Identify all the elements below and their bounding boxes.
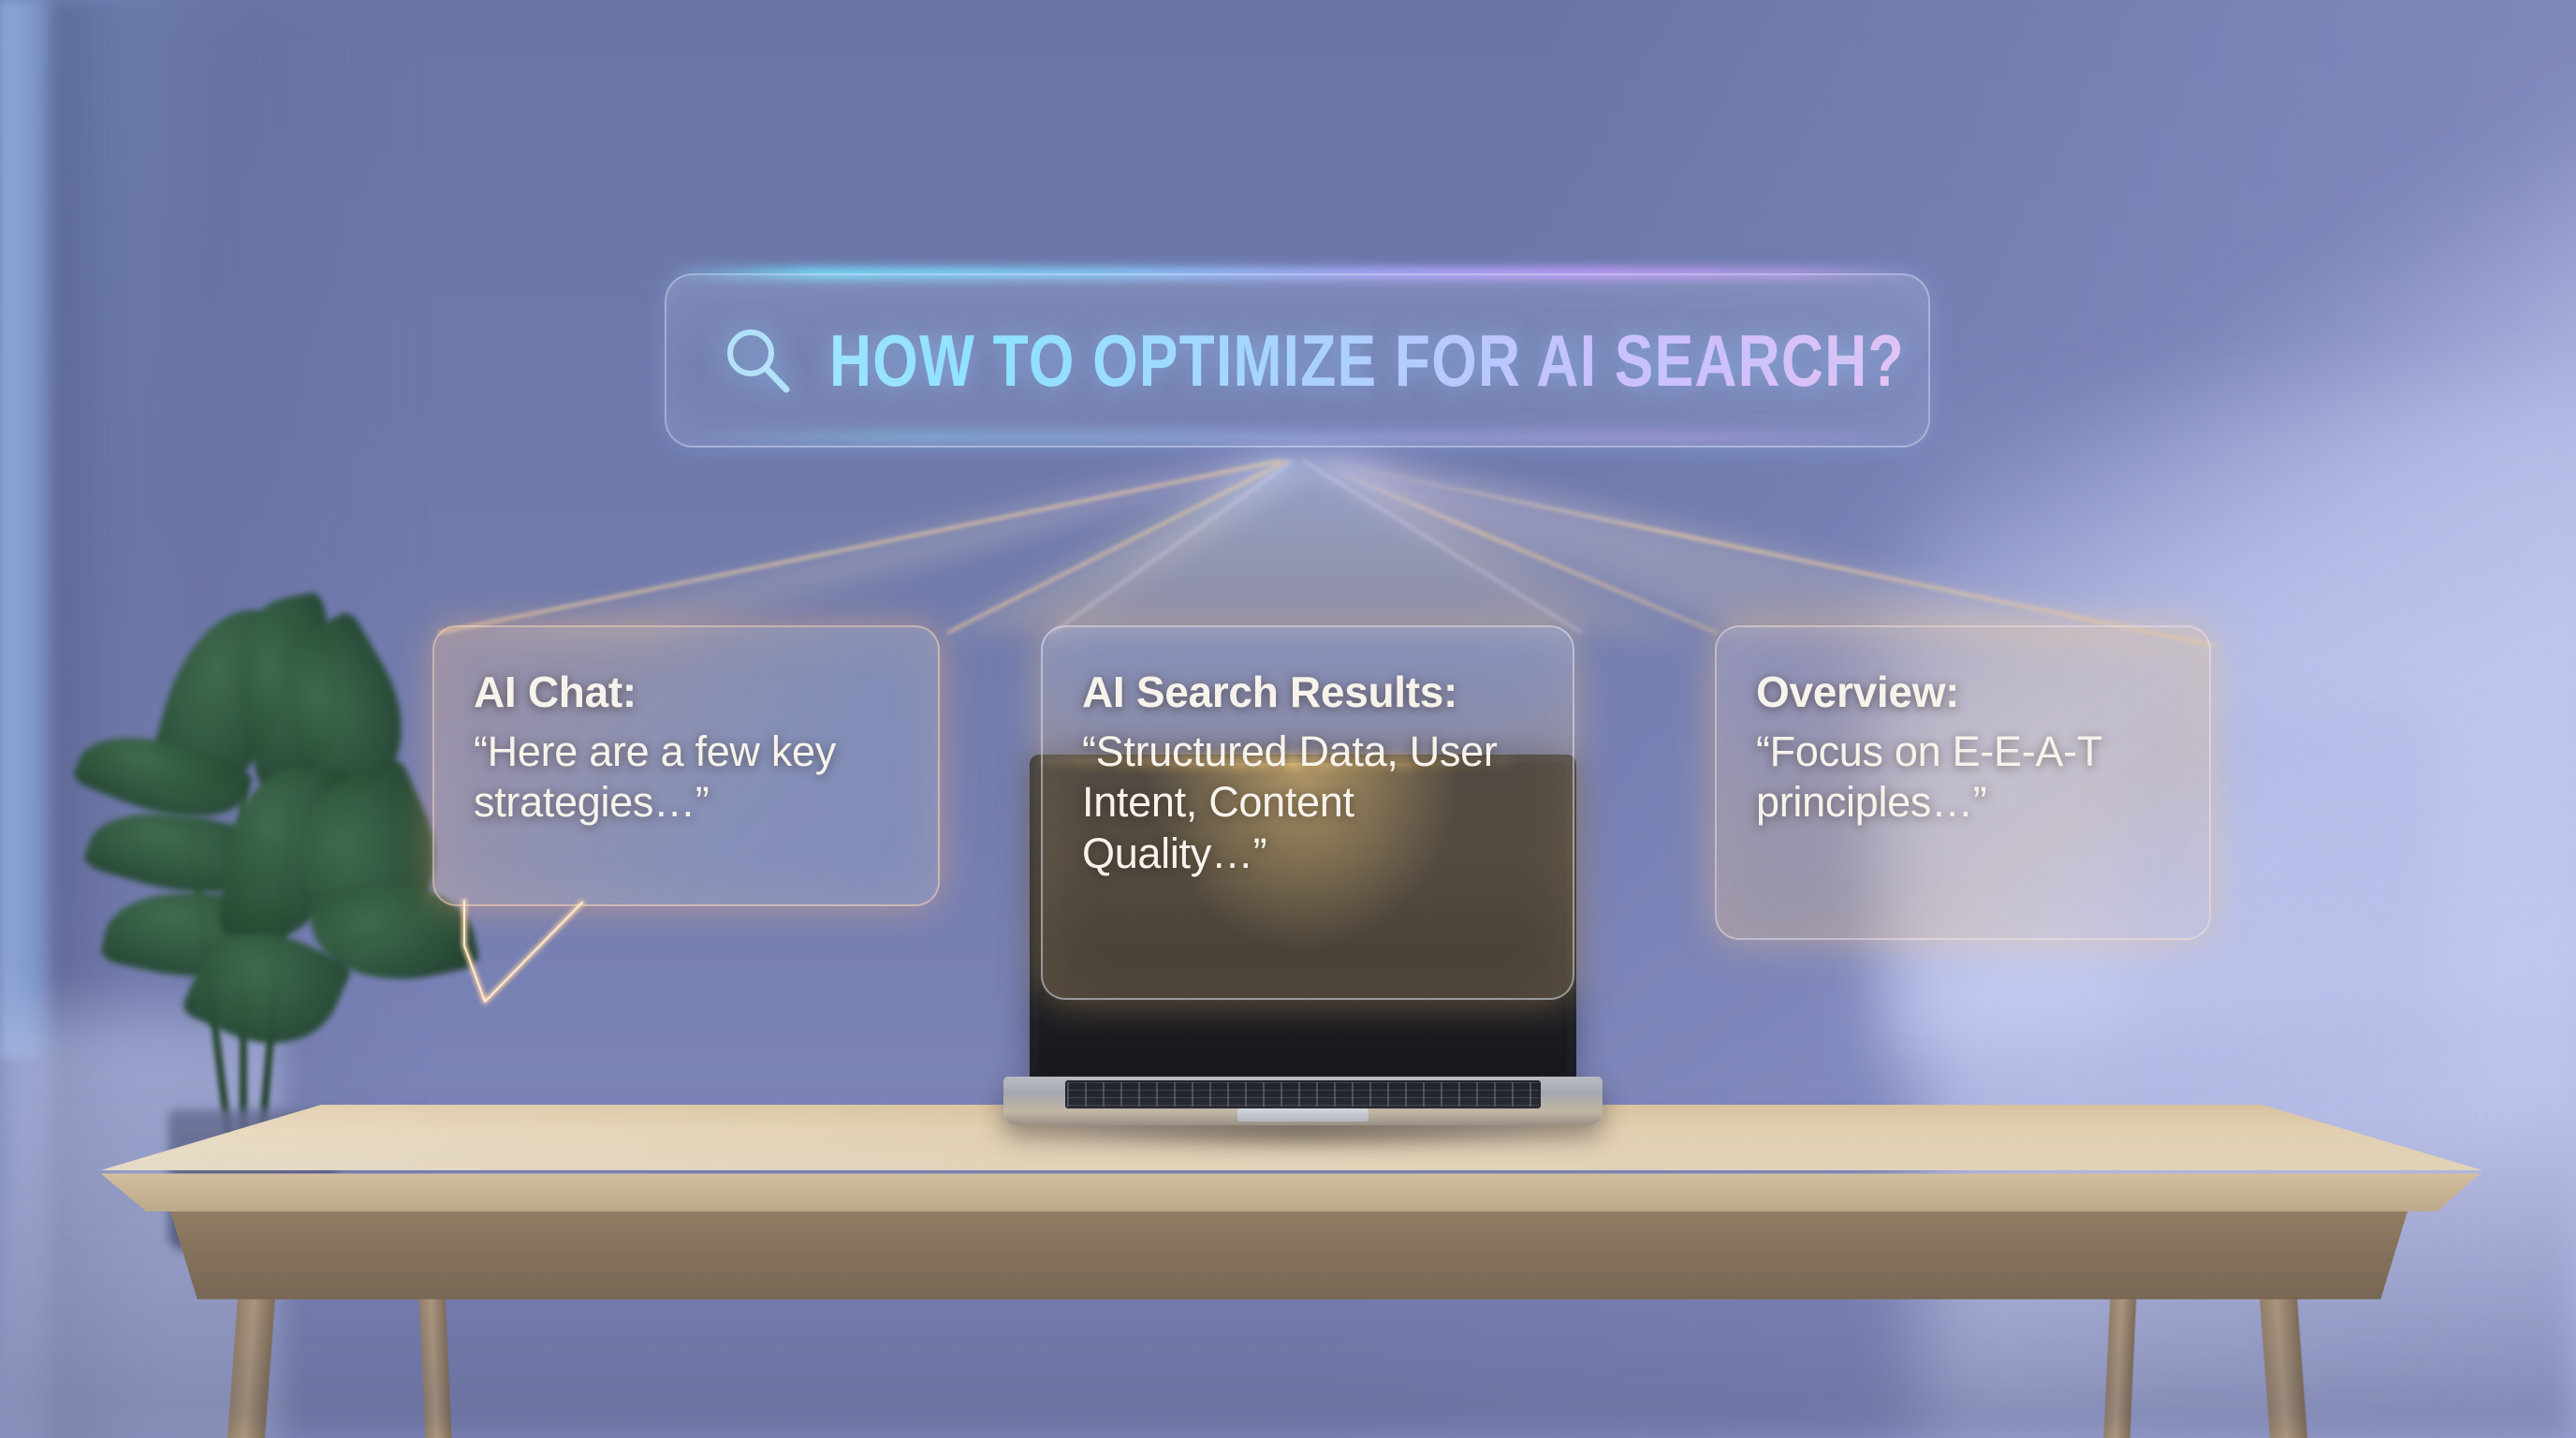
search-bar[interactable]: HOW TO OPTIMIZE FOR AI SEARCH? [665, 273, 1930, 448]
card-overview-body: “Focus on E-E-A-T principles…” [1756, 726, 2172, 829]
floor-shadow [0, 1101, 2576, 1438]
search-query-text[interactable]: HOW TO OPTIMIZE FOR AI SEARCH? [829, 318, 1905, 404]
card-ai-search-results-body: “Structured Data, User Intent, Content Q… [1082, 726, 1535, 881]
card-ai-search-results[interactable]: AI Search Results: “Structured Data, Use… [1041, 625, 1574, 1000]
scene-canvas: HOW TO OPTIMIZE FOR AI SEARCH? AI Chat: … [0, 0, 2576, 1438]
card-ai-search-results-title: AI Search Results: [1082, 668, 1535, 717]
speech-bubble-tail [459, 897, 608, 1019]
wall-corner-highlight [0, 0, 58, 1058]
card-overview[interactable]: Overview: “Focus on E-E-A-T principles…” [1715, 625, 2211, 940]
magnifying-glass-icon[interactable] [721, 324, 794, 397]
card-overview-title: Overview: [1756, 668, 2172, 717]
card-ai-chat[interactable]: AI Chat: “Here are a few key strategies…… [432, 625, 940, 906]
card-ai-chat-title: AI Chat: [474, 668, 900, 717]
card-ai-chat-body: “Here are a few key strategies…” [474, 726, 900, 829]
